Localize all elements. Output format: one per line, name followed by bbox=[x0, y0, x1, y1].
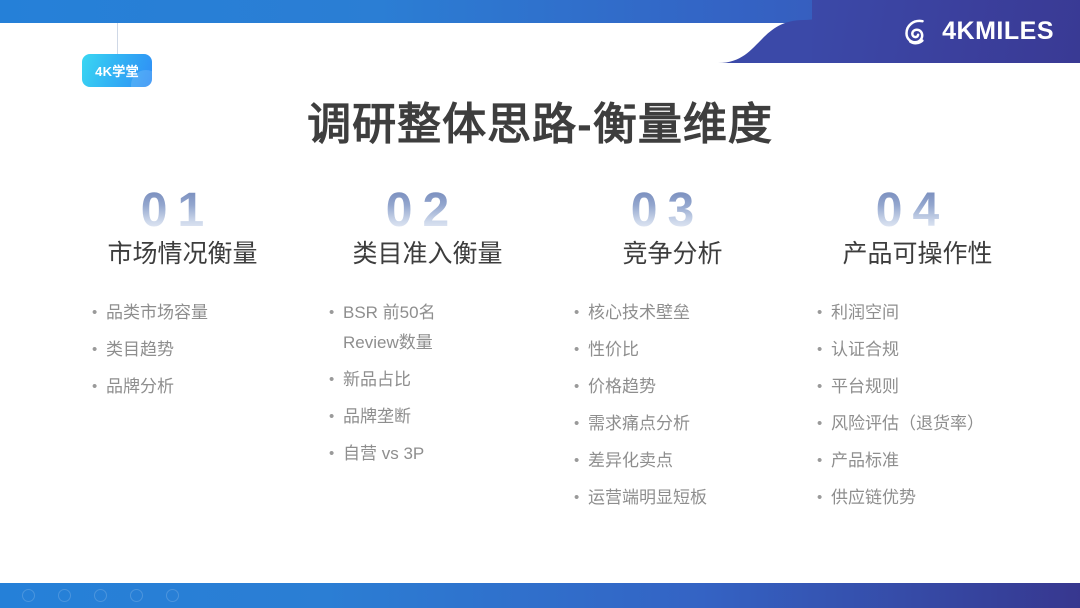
bullet-dot-icon: • bbox=[574, 409, 588, 439]
list-item: • 品类市场容量 bbox=[92, 298, 305, 328]
bullet-dot-icon: • bbox=[92, 298, 106, 328]
list-item-label: BSR 前50名 Review数量 bbox=[343, 298, 436, 358]
column-heading: 产品可操作性 bbox=[842, 234, 992, 270]
list-item-label: 品牌垄断 bbox=[343, 402, 411, 432]
footer-circle-decoration bbox=[94, 589, 107, 602]
bullet-dot-icon: • bbox=[817, 409, 831, 439]
brand-name: 4KMILES bbox=[942, 17, 1054, 46]
list-item-label: 自营 vs 3P bbox=[343, 439, 424, 469]
list-item: • BSR 前50名 Review数量 bbox=[329, 298, 550, 358]
column-bullet-list: • 品类市场容量 • 类目趋势 • 品牌分析 bbox=[60, 298, 305, 402]
list-item: • 认证合规 bbox=[817, 335, 1040, 365]
list-item-label: 供应链优势 bbox=[831, 483, 916, 513]
list-item: • 品牌分析 bbox=[92, 372, 305, 402]
bullet-dot-icon: • bbox=[817, 372, 831, 402]
slide-title: 调研整体思路-衡量维度 bbox=[0, 88, 1080, 152]
list-item-label: 产品标准 bbox=[831, 446, 899, 476]
bullet-dot-icon: • bbox=[817, 298, 831, 328]
dimension-column-3: 03 竞争分析 • 核心技术壁垒 • 性价比 • 价格趋势 • 需求痛点分析 •… bbox=[550, 186, 795, 513]
column-heading: 市场情况衡量 bbox=[107, 234, 257, 270]
list-item: • 价格趋势 bbox=[574, 372, 795, 402]
footer-circle-decoration bbox=[130, 589, 143, 602]
list-item-label: 类目趋势 bbox=[106, 335, 174, 365]
list-item: • 品牌垄断 bbox=[329, 402, 550, 432]
column-number: 02 bbox=[386, 186, 469, 236]
bullet-dot-icon: • bbox=[329, 402, 343, 432]
dimension-columns: 01 市场情况衡量 • 品类市场容量 • 类目趋势 • 品牌分析 02 类目准入… bbox=[60, 186, 1040, 513]
list-item-label: 平台规则 bbox=[831, 372, 899, 402]
list-item-label: 新品占比 bbox=[343, 365, 411, 395]
column-number: 01 bbox=[141, 186, 224, 236]
column-number: 04 bbox=[876, 186, 959, 236]
bullet-dot-icon: • bbox=[574, 483, 588, 513]
list-item: • 供应链优势 bbox=[817, 483, 1040, 513]
list-item: • 自营 vs 3P bbox=[329, 439, 550, 469]
footer-circle-decoration bbox=[22, 589, 35, 602]
dimension-column-1: 01 市场情况衡量 • 品类市场容量 • 类目趋势 • 品牌分析 bbox=[60, 186, 305, 402]
bottom-accent-bar bbox=[0, 583, 1080, 608]
bullet-dot-icon: • bbox=[329, 365, 343, 395]
spiral-swirl-icon bbox=[902, 17, 932, 47]
bullet-dot-icon: • bbox=[817, 446, 831, 476]
list-item-label: 利润空间 bbox=[831, 298, 899, 328]
dimension-column-2: 02 类目准入衡量 • BSR 前50名 Review数量 • 新品占比 • 品… bbox=[305, 186, 550, 469]
course-badge: 4K学堂 bbox=[82, 54, 152, 87]
list-item: • 利润空间 bbox=[817, 298, 1040, 328]
list-item-label: 核心技术壁垒 bbox=[588, 298, 690, 328]
list-item: • 核心技术壁垒 bbox=[574, 298, 795, 328]
list-item-label: 认证合规 bbox=[831, 335, 899, 365]
column-bullet-list: • 核心技术壁垒 • 性价比 • 价格趋势 • 需求痛点分析 • 差异化卖点 •… bbox=[550, 298, 795, 513]
footer-circle-decoration bbox=[166, 589, 179, 602]
bullet-dot-icon: • bbox=[92, 372, 106, 402]
list-item: • 类目趋势 bbox=[92, 335, 305, 365]
badge-connector-line bbox=[117, 23, 118, 58]
list-item-label: 运营端明显短板 bbox=[588, 483, 707, 513]
column-heading: 竞争分析 bbox=[622, 234, 722, 270]
column-number: 03 bbox=[631, 186, 714, 236]
list-item-label: 风险评估（退货率） bbox=[831, 409, 984, 439]
bullet-dot-icon: • bbox=[817, 335, 831, 365]
dimension-column-4: 04 产品可操作性 • 利润空间 • 认证合规 • 平台规则 • 风险评估（退货… bbox=[795, 186, 1040, 513]
list-item-label: 品牌分析 bbox=[106, 372, 174, 402]
column-bullet-list: • 利润空间 • 认证合规 • 平台规则 • 风险评估（退货率） • 产品标准 … bbox=[795, 298, 1040, 513]
list-item-label: 差异化卖点 bbox=[588, 446, 673, 476]
column-heading: 类目准入衡量 bbox=[352, 234, 502, 270]
bullet-dot-icon: • bbox=[329, 439, 343, 469]
column-bullet-list: • BSR 前50名 Review数量 • 新品占比 • 品牌垄断 • 自营 v… bbox=[305, 298, 550, 469]
course-badge-label: 4K学堂 bbox=[95, 61, 139, 80]
list-item: • 平台规则 bbox=[817, 372, 1040, 402]
bullet-dot-icon: • bbox=[92, 335, 106, 365]
list-item-label: 需求痛点分析 bbox=[588, 409, 690, 439]
bullet-dot-icon: • bbox=[574, 335, 588, 365]
bullet-dot-icon: • bbox=[329, 298, 343, 328]
list-item: • 新品占比 bbox=[329, 365, 550, 395]
bullet-dot-icon: • bbox=[574, 446, 588, 476]
bullet-dot-icon: • bbox=[817, 483, 831, 513]
bullet-dot-icon: • bbox=[574, 372, 588, 402]
list-item: • 运营端明显短板 bbox=[574, 483, 795, 513]
footer-circle-decoration bbox=[58, 589, 71, 602]
list-item: • 产品标准 bbox=[817, 446, 1040, 476]
list-item: • 需求痛点分析 bbox=[574, 409, 795, 439]
list-item-label: 价格趋势 bbox=[588, 372, 656, 402]
list-item-label: 性价比 bbox=[588, 335, 639, 365]
list-item: • 性价比 bbox=[574, 335, 795, 365]
bullet-dot-icon: • bbox=[574, 298, 588, 328]
list-item: • 差异化卖点 bbox=[574, 446, 795, 476]
brand-logo-panel: 4KMILES bbox=[812, 0, 1080, 63]
list-item: • 风险评估（退货率） bbox=[817, 409, 1040, 439]
list-item-label: 品类市场容量 bbox=[106, 298, 208, 328]
